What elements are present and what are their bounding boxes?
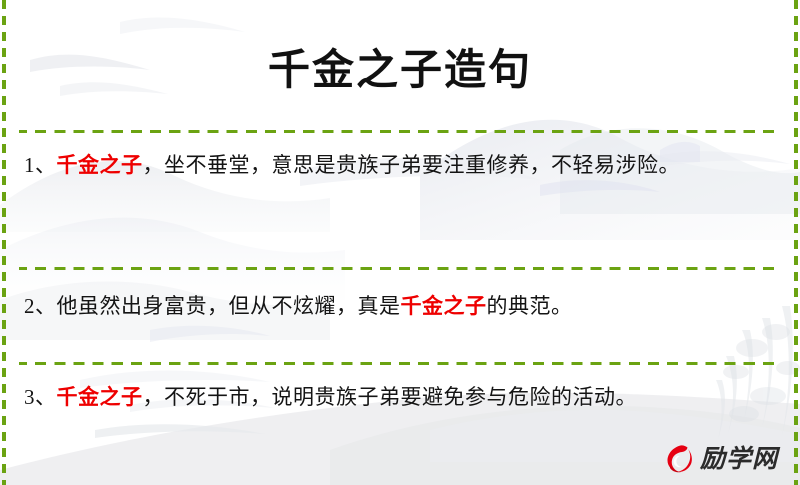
sentence-item-1: 1、千金之子，坐不垂堂，意思是贵族子弟要注重修养，不轻易涉险。 — [18, 133, 782, 267]
sentence-number-3: 3、 — [24, 385, 57, 409]
page-border-right-dashed — [794, 0, 798, 485]
red-swirl-flame-icon — [662, 443, 694, 475]
page-title: 千金之子造句 — [18, 28, 782, 102]
page-border-left-dashed — [2, 0, 6, 485]
page-root: 千金之子造句 1、千金之子，坐不垂堂，意思是贵族子弟要注重修养，不轻易涉险。 2… — [0, 0, 800, 485]
site-logo[interactable]: 励学网 — [662, 443, 778, 475]
sentence-keyword-3: 千金之子 — [57, 385, 143, 409]
sentence-text-3: 3、千金之子，不死于市，说明贵族子弟要避免参与危险的活动。 — [24, 379, 776, 415]
content-container: 千金之子造句 1、千金之子，坐不垂堂，意思是贵族子弟要注重修养，不轻易涉险。 2… — [0, 28, 800, 485]
sentence-body-2b: 的典范。 — [487, 294, 573, 318]
sentence-keyword-2: 千金之子 — [401, 294, 487, 318]
site-logo-text: 励学网 — [700, 447, 778, 472]
sentence-keyword-1: 千金之子 — [57, 153, 143, 177]
sentence-body-1: ，坐不垂堂，意思是贵族子弟要注重修养，不轻易涉险。 — [143, 153, 681, 177]
sentence-body-3: ，不死于市，说明贵族子弟要避免参与危险的活动。 — [143, 385, 638, 409]
sentence-item-2: 2、他虽然出身富贵，但从不炫耀，真是千金之子的典范。 — [18, 270, 782, 362]
sentence-number-1: 1、 — [24, 153, 57, 177]
sentence-body-2a: 他虽然出身富贵，但从不炫耀，真是 — [57, 294, 401, 318]
sentence-text-1: 1、千金之子，坐不垂堂，意思是贵族子弟要注重修养，不轻易涉险。 — [24, 147, 776, 183]
sentence-text-2: 2、他虽然出身富贵，但从不炫耀，真是千金之子的典范。 — [24, 288, 776, 324]
sentence-number-2: 2、 — [24, 294, 57, 318]
